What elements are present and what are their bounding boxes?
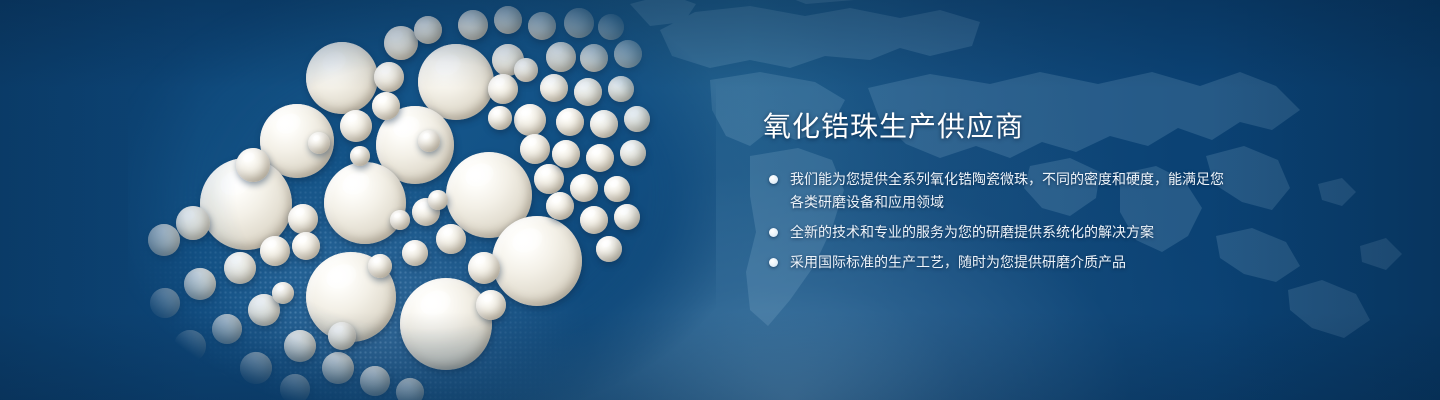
list-item-text: 我们能为您提供全系列氧化锆陶瓷微珠，不同的密度和硬度，能满足您各类研磨设备和应用… — [790, 171, 1224, 210]
bead-small — [574, 78, 602, 106]
list-item: 全新的技术和专业的服务为您的研磨提供系统化的解决方案 — [763, 221, 1233, 244]
page-title: 氧化锆珠生产供应商 — [763, 108, 1233, 146]
bead-small — [488, 106, 512, 130]
bead-medium — [322, 352, 354, 384]
bead-small — [620, 140, 646, 166]
bead-small — [608, 76, 634, 102]
bead-small — [564, 8, 594, 38]
bead-small — [556, 108, 584, 136]
bead-small — [552, 140, 580, 168]
bead-medium — [368, 254, 392, 278]
bead-small — [590, 110, 618, 138]
bead-medium — [340, 110, 372, 142]
list-item: 采用国际标准的生产工艺，随时为您提供研磨介质产品 — [763, 251, 1233, 274]
bead-medium — [488, 74, 518, 104]
bead-medium — [546, 192, 574, 220]
bead-medium — [280, 374, 310, 400]
bullet-dot-icon — [769, 228, 778, 237]
bead-medium — [514, 104, 546, 136]
bead-medium — [436, 224, 466, 254]
bead-small — [458, 10, 488, 40]
bead-medium — [176, 206, 210, 240]
bead-medium — [372, 92, 400, 120]
hero-banner: 氧化锆珠生产供应商 我们能为您提供全系列氧化锆陶瓷微珠，不同的密度和硬度，能满足… — [0, 0, 1440, 400]
bead-medium — [260, 236, 290, 266]
bead-medium — [240, 352, 272, 384]
bead-small — [596, 236, 622, 262]
bullet-dot-icon — [769, 175, 778, 184]
list-item-text: 采用国际标准的生产工艺，随时为您提供研磨介质产品 — [790, 254, 1126, 270]
bead-large — [492, 216, 582, 306]
bead-medium — [476, 290, 506, 320]
banner-text-panel: 氧化锆珠生产供应商 我们能为您提供全系列氧化锆陶瓷微珠，不同的密度和硬度，能满足… — [763, 108, 1233, 274]
bead-large — [324, 162, 406, 244]
product-photo-zirconia-beads — [128, 0, 716, 400]
bead-small — [614, 204, 640, 230]
bead-medium — [384, 26, 418, 60]
bead-small — [272, 282, 294, 304]
bead-medium — [520, 134, 550, 164]
bead-medium — [414, 16, 442, 44]
bead-medium — [292, 232, 320, 260]
bead-medium — [402, 240, 428, 266]
bead-small — [624, 106, 650, 132]
bead-small — [428, 190, 448, 210]
bead-small — [494, 6, 522, 34]
bead-medium — [174, 330, 206, 362]
bead-medium — [328, 322, 356, 350]
bead-small — [390, 210, 410, 230]
bead-medium — [374, 62, 404, 92]
bead-medium — [396, 378, 424, 400]
bead-medium — [202, 372, 232, 400]
bead-medium — [360, 366, 390, 396]
bead-small — [598, 14, 624, 40]
bead-medium — [236, 148, 270, 182]
bead-small — [514, 58, 538, 82]
bead-small — [528, 12, 556, 40]
bead-medium — [534, 164, 564, 194]
list-item: 我们能为您提供全系列氧化锆陶瓷微珠，不同的密度和硬度，能满足您各类研磨设备和应用… — [763, 168, 1233, 214]
bead-medium — [468, 252, 500, 284]
bead-medium — [284, 330, 316, 362]
bead-small — [308, 132, 330, 154]
bead-medium — [224, 252, 256, 284]
bead-medium — [212, 314, 242, 344]
bead-small — [350, 146, 370, 166]
bead-small — [418, 130, 440, 152]
bead-large — [306, 42, 378, 114]
list-item-text: 全新的技术和专业的服务为您的研磨提供系统化的解决方案 — [790, 224, 1154, 240]
bead-medium — [288, 204, 318, 234]
bead-medium — [150, 288, 180, 318]
bullet-dot-icon — [769, 258, 778, 267]
bead-medium — [184, 268, 216, 300]
bead-small — [586, 144, 614, 172]
bead-small — [540, 74, 568, 102]
bead-small — [580, 206, 608, 234]
bead-small — [614, 40, 642, 68]
bead-large — [400, 278, 492, 370]
bead-small — [546, 42, 576, 72]
bead-small — [570, 174, 598, 202]
bead-medium — [148, 224, 180, 256]
bead-small — [580, 44, 608, 72]
feature-list: 我们能为您提供全系列氧化锆陶瓷微珠，不同的密度和硬度，能满足您各类研磨设备和应用… — [763, 168, 1233, 274]
bead-small — [604, 176, 630, 202]
